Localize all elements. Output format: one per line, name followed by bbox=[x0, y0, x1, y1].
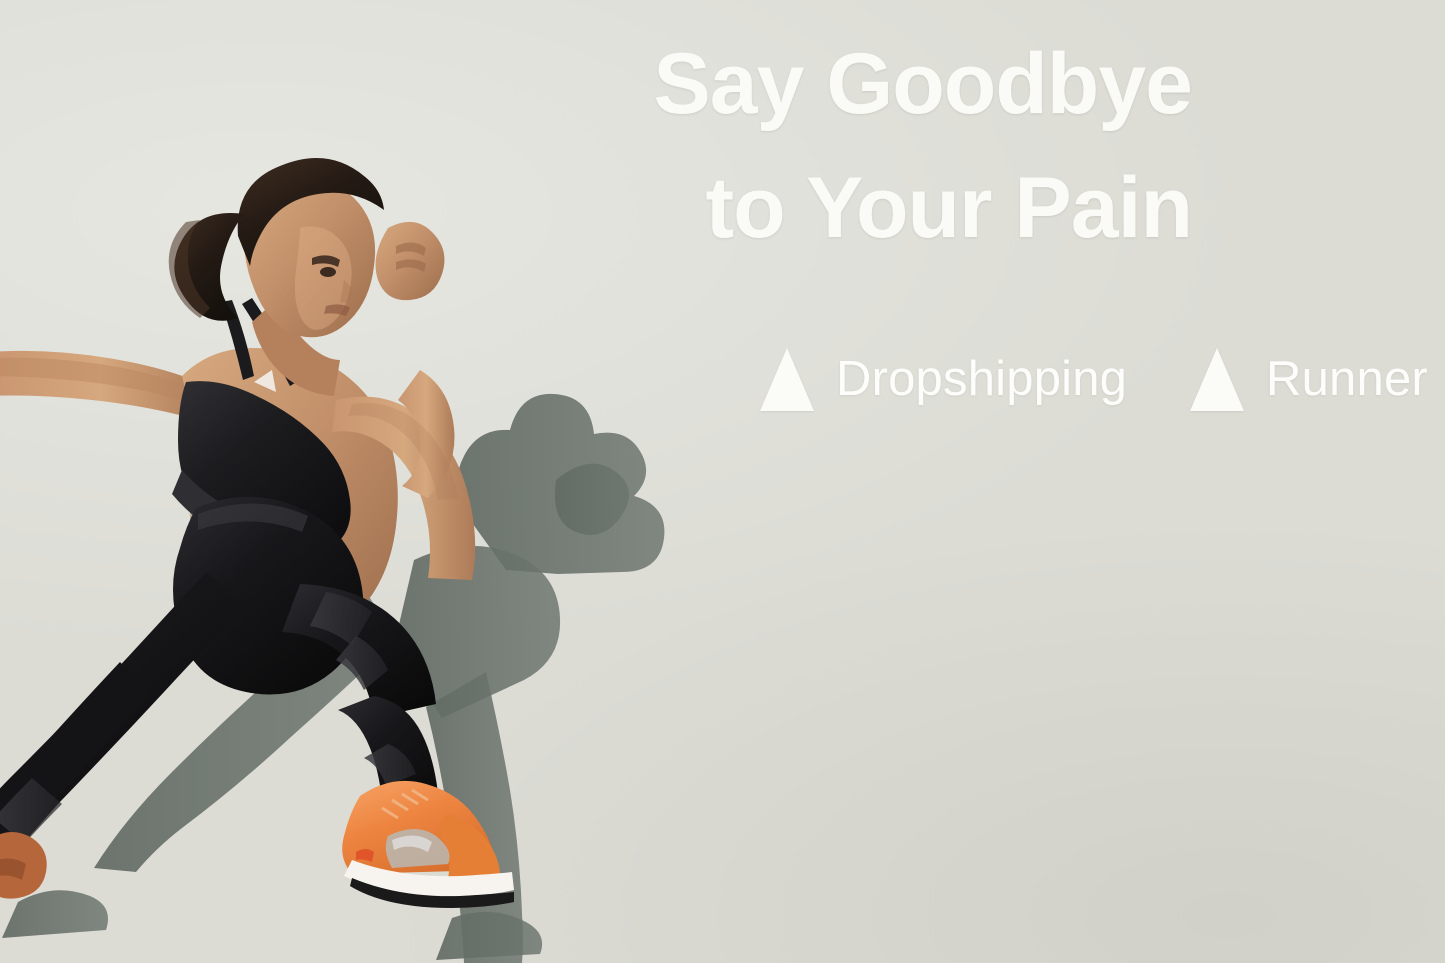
triangle-icon bbox=[1190, 348, 1244, 411]
list-item[interactable]: Dropshipping bbox=[760, 322, 1190, 437]
list-item-label: Dropshipping bbox=[836, 355, 1127, 404]
page-title: Say Goodbye to Your Pain bbox=[0, 22, 1192, 270]
hero-banner: Say Goodbye to Your Pain Dropshipping Ru… bbox=[0, 0, 1445, 963]
triangle-icon bbox=[760, 348, 814, 411]
feature-list: Dropshipping Runner Sports Safety Air Tr… bbox=[760, 322, 1445, 437]
list-item[interactable]: Runner bbox=[1190, 322, 1445, 437]
list-item-label: Runner bbox=[1266, 355, 1428, 404]
athlete-back-foot bbox=[0, 832, 47, 899]
